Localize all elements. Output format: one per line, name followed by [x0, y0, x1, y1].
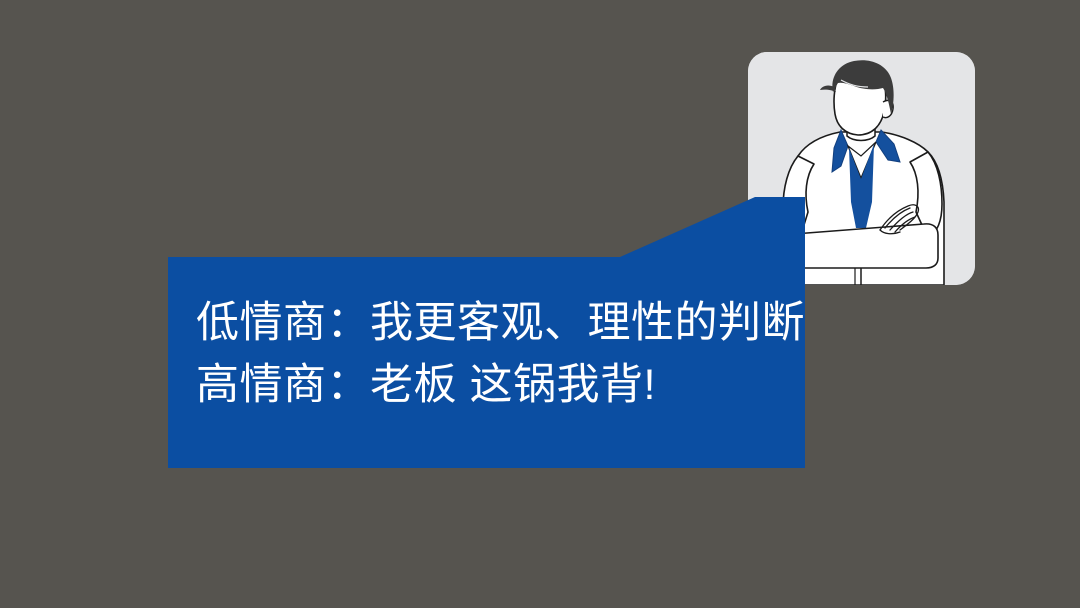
speech-bubble-text: 低情商：我更客观、理性的判断 高情商：老板 这锅我背! [196, 292, 796, 416]
slide-canvas: 低情商：我更客观、理性的判断 高情商：老板 这锅我背! [0, 0, 1080, 608]
speech-line-1: 低情商：我更客观、理性的判断 [196, 292, 796, 354]
speech-line-2: 高情商：老板 这锅我背! [196, 354, 796, 416]
avatar-illustration [748, 52, 975, 285]
avatar-card [748, 52, 975, 285]
